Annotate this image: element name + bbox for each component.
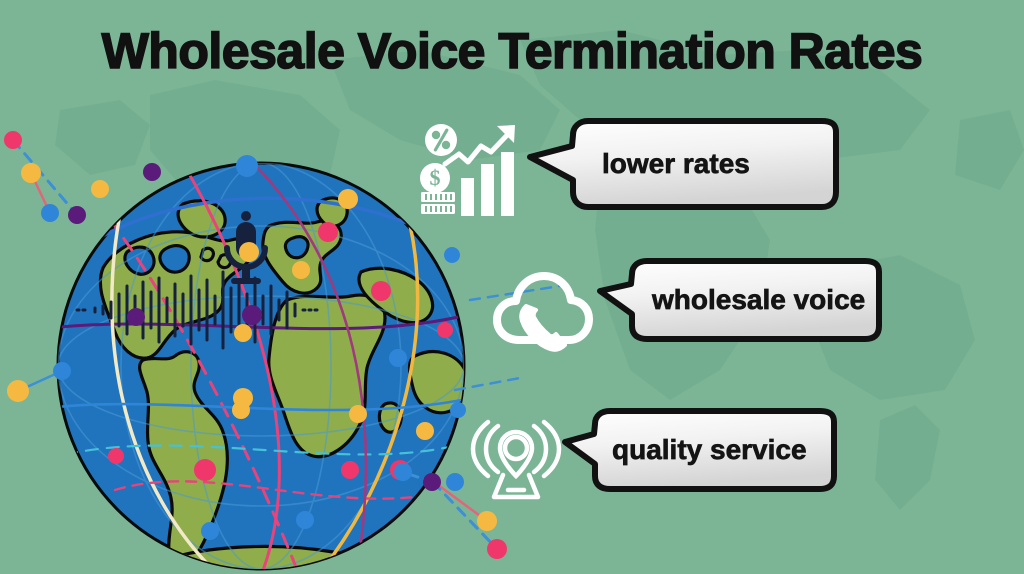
callout-label: quality service [612, 434, 807, 466]
callout-bubble-quality-service[interactable]: quality service [562, 408, 837, 492]
callout-label: lower rates [602, 148, 750, 180]
growth-chart-percent-icon: $ [419, 122, 523, 220]
callout-label: wholesale voice [652, 284, 865, 316]
svg-text:$: $ [430, 165, 441, 190]
callout-bubble-lower-rates[interactable]: lower rates [527, 118, 839, 210]
page-title: Wholesale Voice Termination Rates [0, 22, 1024, 80]
globe-illustration [55, 160, 467, 574]
infographic-canvas: Wholesale Voice Termination Rates [0, 0, 1024, 574]
callout-bubble-wholesale-voice[interactable]: wholesale voice [597, 258, 882, 342]
cloud-phone-icon [493, 268, 593, 354]
location-signal-icon [468, 418, 564, 502]
